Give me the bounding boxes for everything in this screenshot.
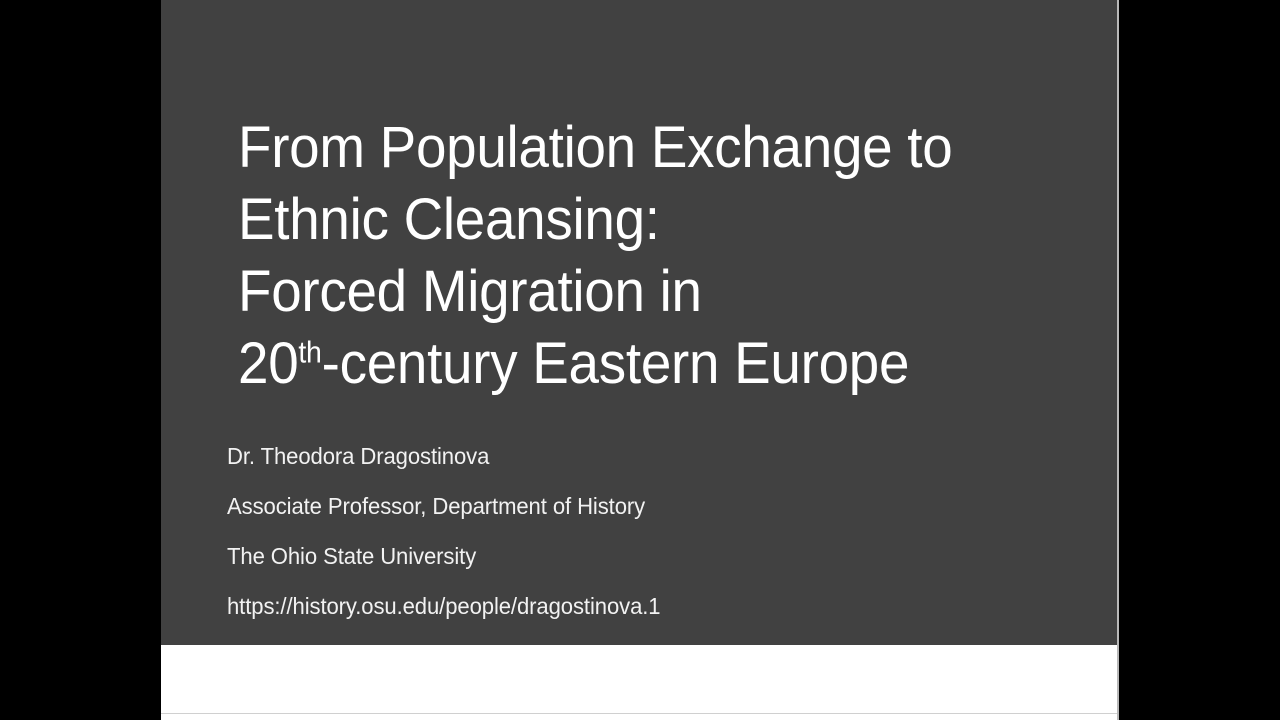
letterbox-bar-right	[1118, 0, 1280, 720]
page-whitespace-below-slide	[161, 645, 1118, 720]
title-line-2: Ethnic Cleansing:	[238, 184, 1041, 256]
byline-presenter-name: Dr. Theodora Dragostinova	[227, 431, 1014, 481]
page-separator-line	[161, 713, 1118, 714]
byline-institution: The Ohio State University	[227, 531, 1014, 581]
video-viewport: From Population Exchange to Ethnic Clean…	[0, 0, 1280, 720]
slide-content: From Population Exchange to Ethnic Clean…	[161, 0, 1117, 645]
byline-profile-url: https://history.osu.edu/people/dragostin…	[227, 581, 1014, 631]
presentation-slide: From Population Exchange to Ethnic Clean…	[161, 0, 1117, 645]
letterbox-bar-left	[0, 0, 161, 720]
title-line-4-superscript: th	[298, 337, 321, 370]
title-line-4-prefix: 20	[238, 331, 298, 396]
page-right-edge-border	[1117, 0, 1119, 720]
title-line-4-suffix: -century Eastern Europe	[322, 331, 910, 396]
title-line-4: 20th-century Eastern Europe	[238, 328, 1041, 400]
title-line-1: From Population Exchange to	[238, 112, 1041, 184]
title-line-3: Forced Migration in	[238, 256, 1041, 328]
slide-byline: Dr. Theodora Dragostinova Associate Prof…	[227, 431, 1047, 631]
byline-title-department: Associate Professor, Department of Histo…	[227, 481, 1014, 531]
slide-title: From Population Exchange to Ethnic Clean…	[238, 112, 1088, 400]
